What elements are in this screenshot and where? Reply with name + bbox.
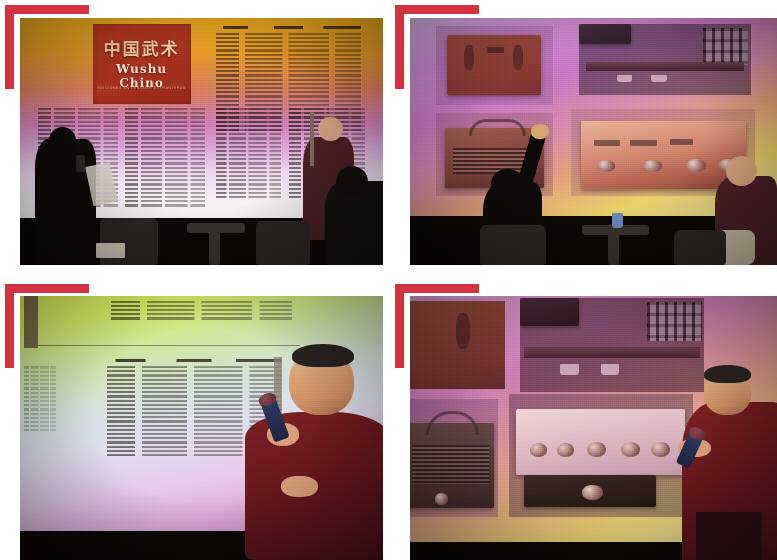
panel-top-left: 中国武术 Wushu Chino EDICIONES EN LENGUAS EX… [20, 18, 383, 265]
bracket-arm-horizontal [5, 284, 89, 293]
bracket-arm-vertical [395, 5, 404, 89]
panel-top-right [410, 18, 777, 265]
bracket-arm-vertical [5, 5, 14, 89]
panel-bottom-right [410, 296, 777, 560]
panel-top-left-scene: 中国武术 Wushu Chino EDICIONES EN LENGUAS EX… [20, 18, 383, 265]
panel-bottom-left-scene [20, 296, 383, 560]
panel-bottom-right-scene [410, 296, 777, 560]
bracket-arm-horizontal [395, 284, 479, 293]
panel-bottom-left [20, 296, 383, 560]
photo-collage: 中国武术 Wushu Chino EDICIONES EN LENGUAS EX… [0, 0, 777, 560]
bracket-arm-horizontal [395, 5, 479, 14]
vignette [20, 296, 383, 560]
vignette [20, 18, 383, 265]
panel-top-right-scene [410, 18, 777, 265]
bracket-arm-vertical [395, 284, 404, 368]
bracket-arm-vertical [5, 284, 14, 368]
vignette [410, 296, 777, 560]
vignette [410, 18, 777, 265]
bracket-arm-horizontal [5, 5, 89, 14]
